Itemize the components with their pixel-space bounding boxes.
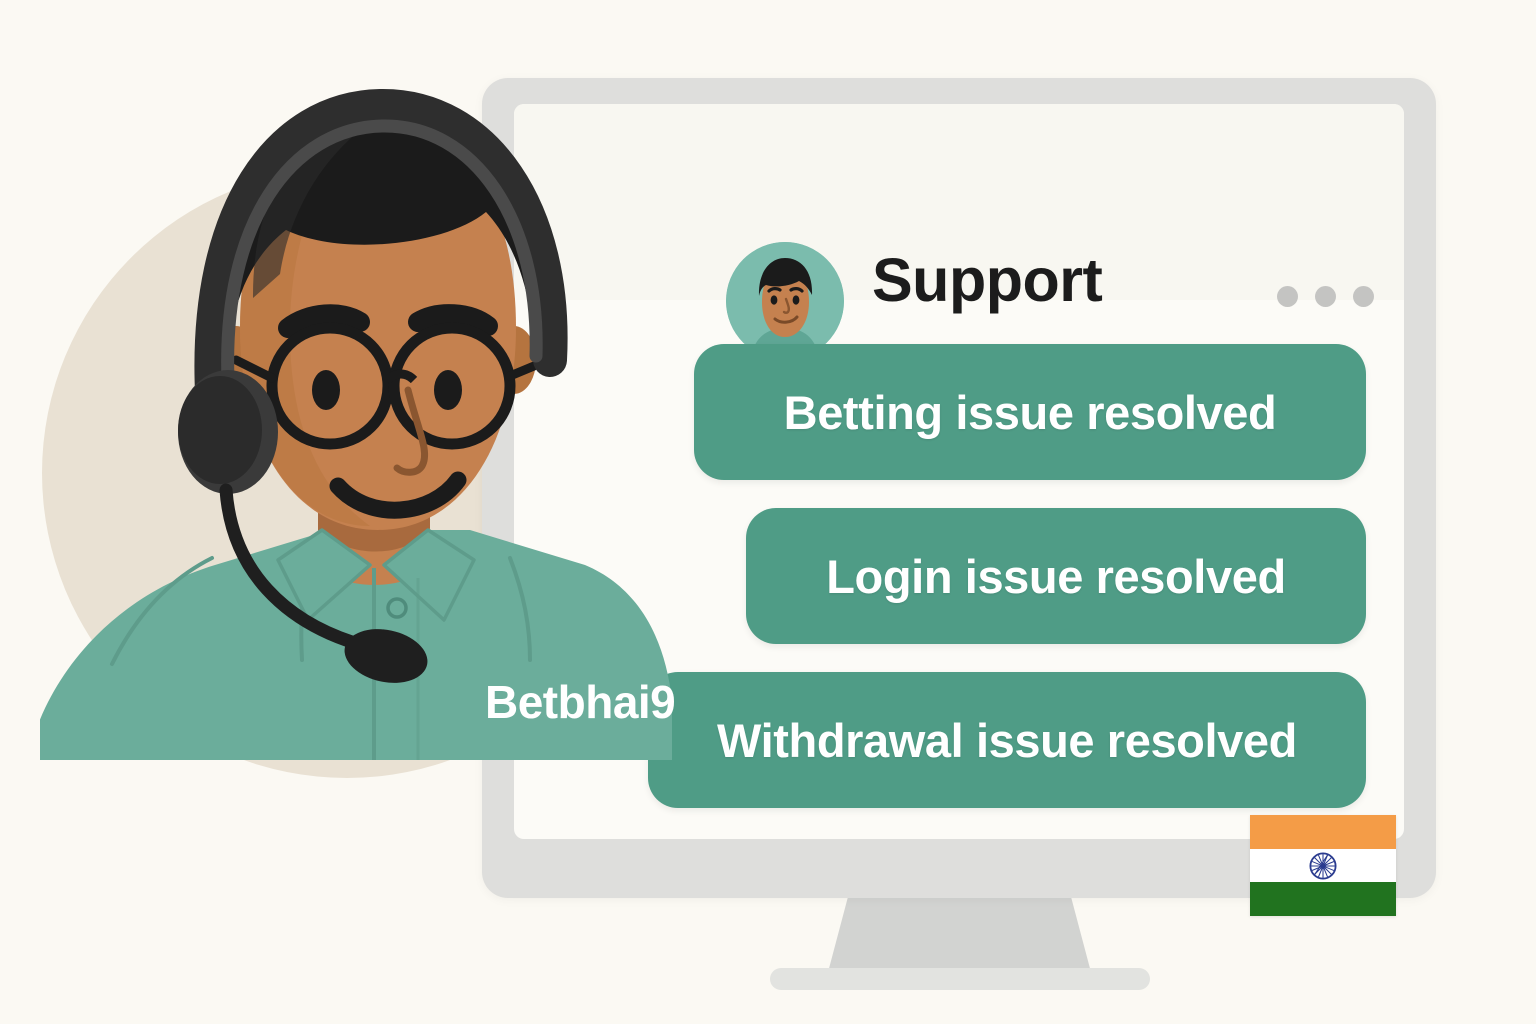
chat-message-bubble[interactable]: Withdrawal issue resolved: [648, 672, 1366, 808]
earcup-inner: [178, 376, 262, 484]
chat-message-bubble[interactable]: Login issue resolved: [746, 508, 1366, 644]
menu-dot: [1315, 286, 1336, 307]
avatar-face-icon: [726, 242, 844, 360]
chat-title: Support: [872, 250, 1102, 311]
more-options-icon[interactable]: [1277, 286, 1374, 307]
menu-dot: [1277, 286, 1298, 307]
shirt-badge-label: Betbhai9: [485, 676, 675, 728]
flag-band-green: [1250, 882, 1396, 916]
flag-band-saffron: [1250, 815, 1396, 849]
support-agent-illustration: Betbhai9: [40, 60, 680, 820]
menu-dot: [1353, 286, 1374, 307]
monitor-stand-neck: [827, 896, 1092, 976]
india-flag-icon: [1250, 815, 1396, 916]
support-agent-avatar[interactable]: [726, 242, 844, 360]
eye-left: [312, 370, 340, 410]
flag-band-white: [1250, 849, 1396, 883]
eye-right: [434, 370, 462, 410]
illustration-canvas: Support Betting issue resolved Login iss…: [0, 0, 1536, 1024]
ashoka-chakra-icon: [1309, 852, 1337, 880]
monitor-stand-base: [770, 968, 1150, 990]
chat-message-bubble[interactable]: Betting issue resolved: [694, 344, 1366, 480]
